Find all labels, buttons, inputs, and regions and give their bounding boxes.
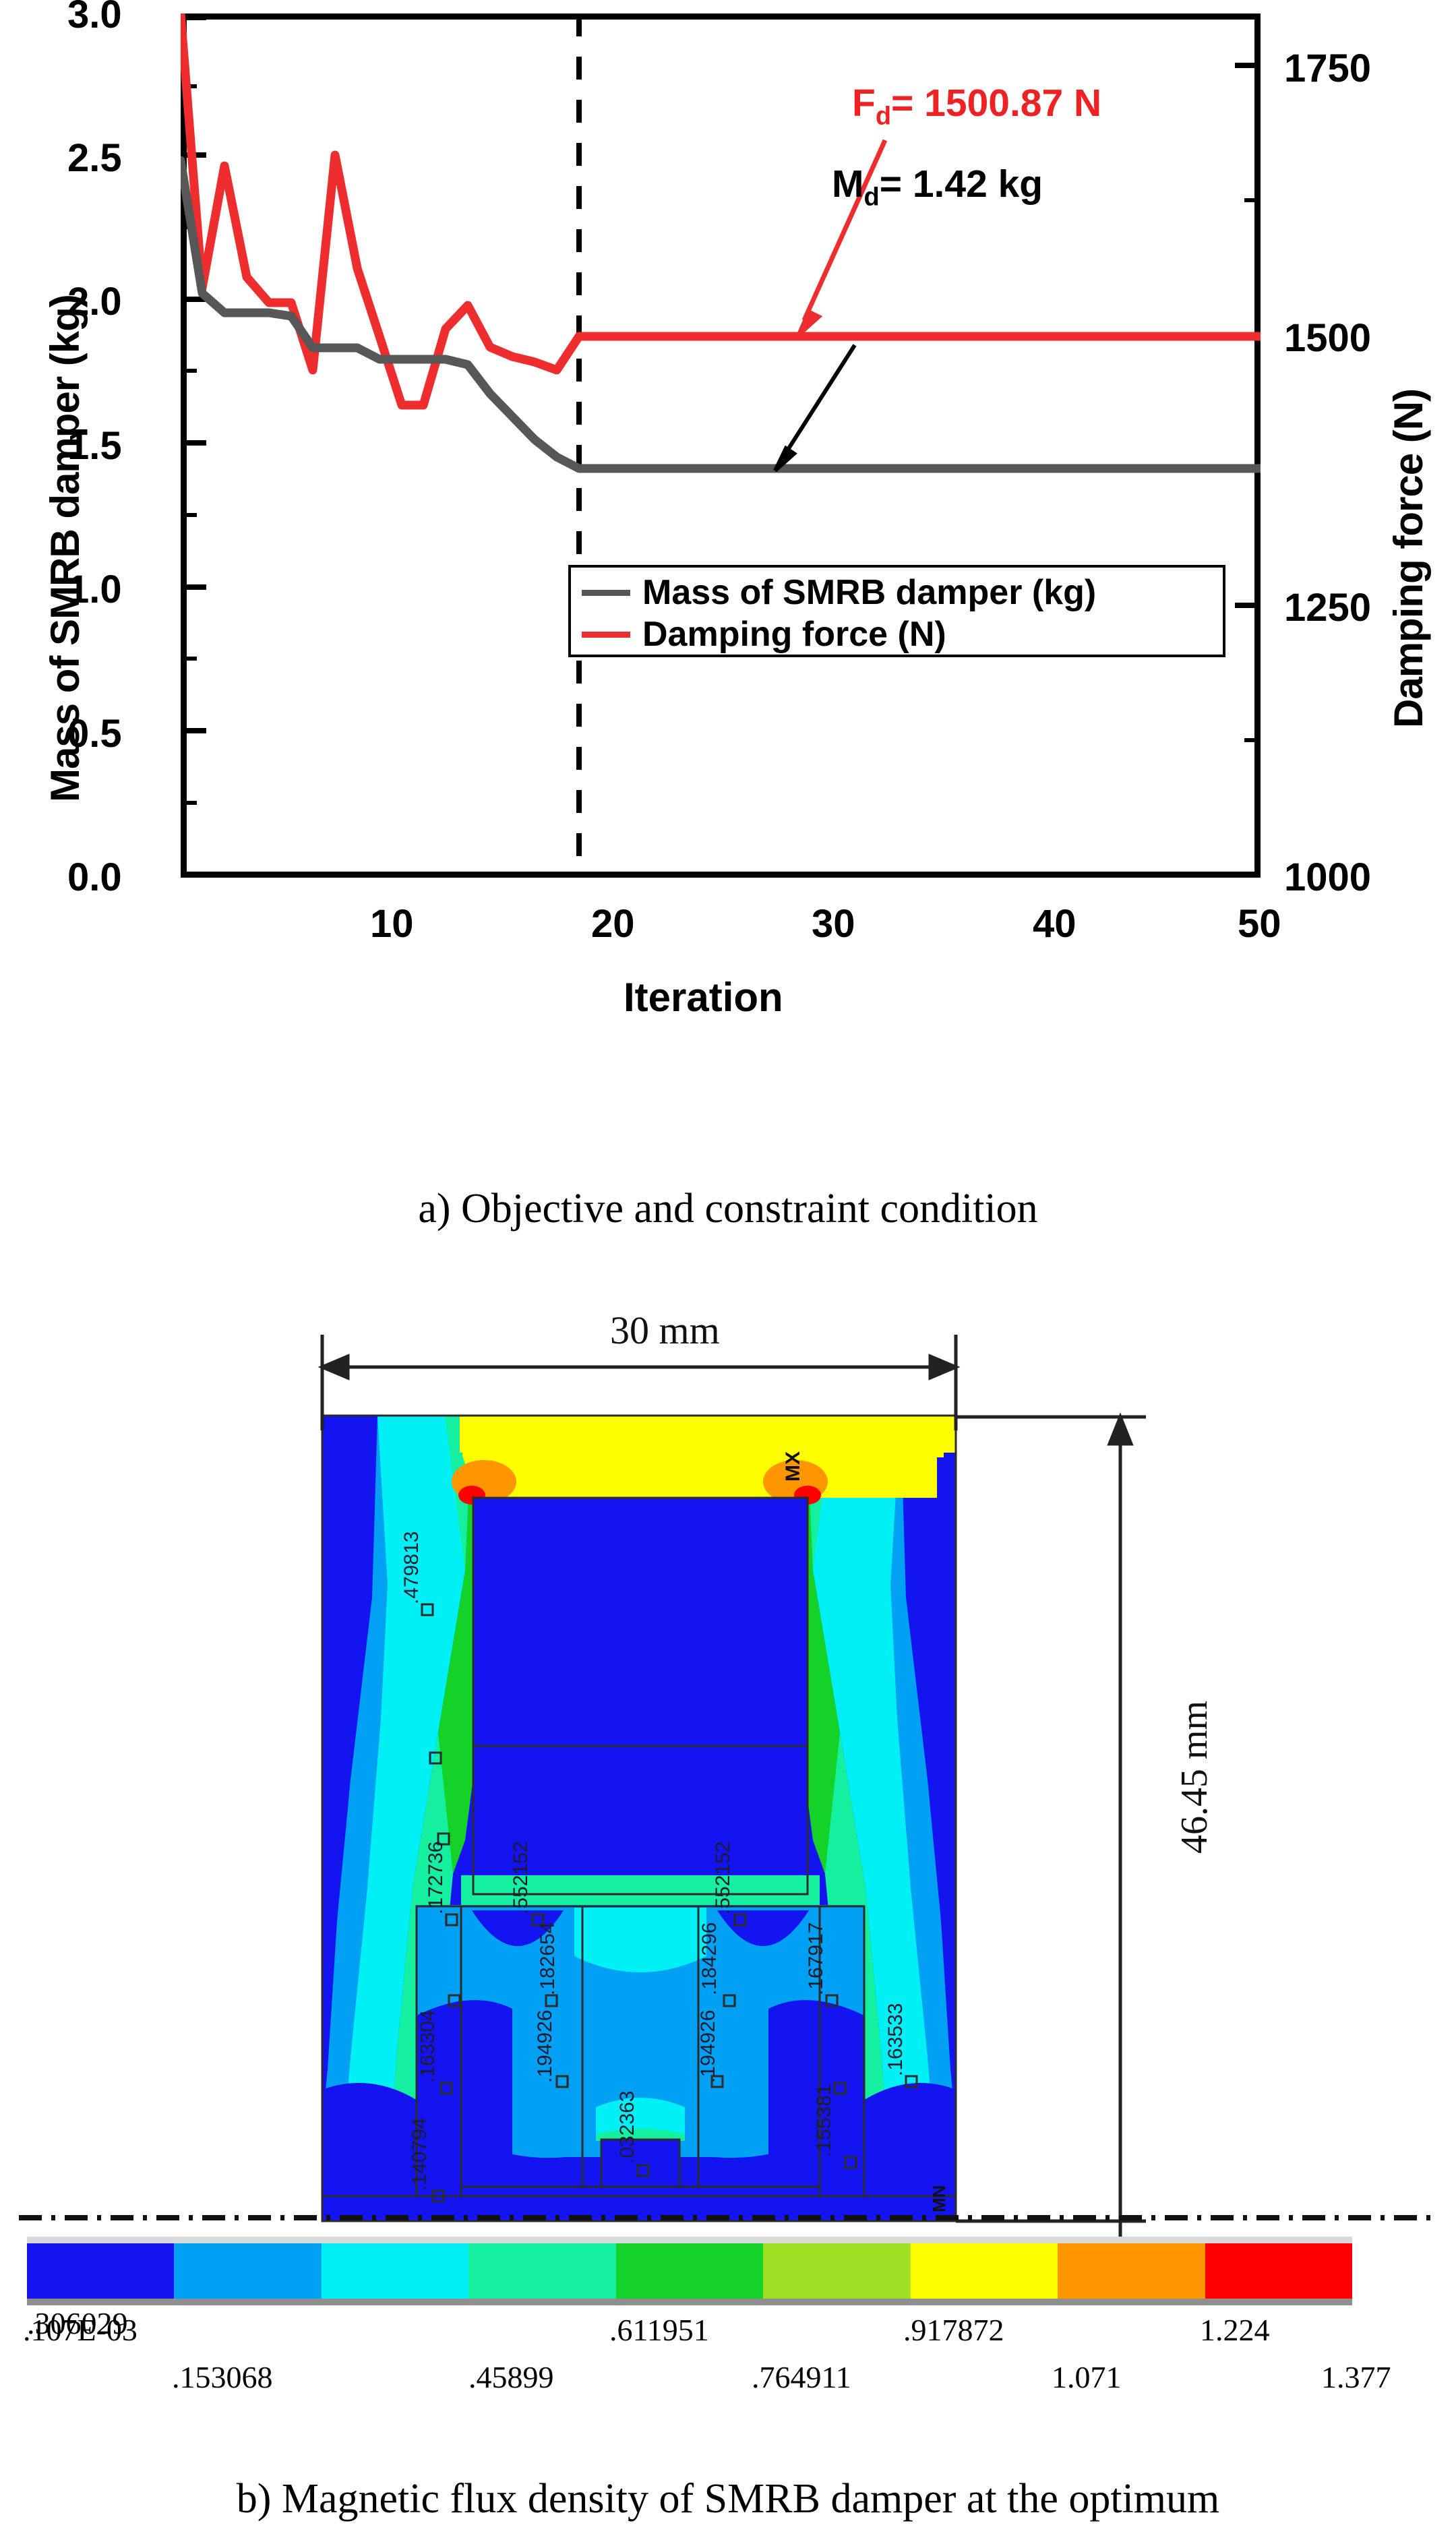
contour-label-1: .552152 <box>510 1842 532 1914</box>
md-arrow <box>775 345 855 471</box>
contour-label-7: .163304 <box>417 2010 439 2083</box>
legend-label-mass: Mass of SMRB damper (kg) <box>642 575 1096 610</box>
colorbar-segment-2 <box>174 2243 321 2299</box>
left-tick-0: 0.0 <box>67 855 122 900</box>
colorbar-label-bottom-0: .153068 <box>172 2359 273 2395</box>
left-tick-1: 0.5 <box>67 711 122 756</box>
x-tick-50: 50 <box>1238 901 1281 946</box>
height-dimension-line <box>956 1417 1146 2272</box>
fd-symbol: F <box>852 82 876 125</box>
colorbar <box>27 2237 1352 2305</box>
contour-label-9: .194926 <box>697 2010 719 2083</box>
colorbar-segment-4 <box>468 2243 615 2299</box>
legend-item-damping-force: Damping force (N) <box>571 613 1223 655</box>
dash-dot-separator <box>19 2215 1437 2220</box>
colorbar-segment-8 <box>1058 2243 1205 2299</box>
legend-label-damping-force: Damping force (N) <box>642 617 946 652</box>
legend-swatch-mass <box>582 590 630 596</box>
right-axis-title: Damping force (N) <box>1385 389 1432 728</box>
contour-label-4: .182654 <box>537 1922 559 1995</box>
md-value: = 1.42 kg <box>880 162 1043 206</box>
figure-objective-constraint: Mass of SMRB damper (kg) Damping force (… <box>0 0 1456 1146</box>
legend-swatch-damping-force <box>582 632 630 638</box>
fd-value: = 1500.87 N <box>891 82 1101 125</box>
left-tick-3: 1.5 <box>67 423 122 468</box>
contour-label-6: .167917 <box>805 1922 827 1995</box>
colorbar-container: .107E-03 .306029 .611951 .917872 1.224 .… <box>27 2237 1355 2305</box>
mx-marker: MX <box>782 1451 804 1482</box>
contour-label-0: .479813 <box>400 1532 423 1604</box>
mn-marker: MN <box>929 2185 949 2212</box>
right-tick-0: 1000 <box>1284 855 1371 900</box>
colorbar-label-top-2: .611951 <box>609 2312 709 2348</box>
x-tick-20: 20 <box>591 901 635 946</box>
plot-canvas <box>181 13 1261 878</box>
md-symbol: M <box>832 162 863 206</box>
colorbar-segment-1 <box>27 2243 174 2299</box>
right-tick-2: 1500 <box>1284 315 1371 361</box>
colorbar-segment-6 <box>763 2243 910 2299</box>
contour-label-12: .140794 <box>408 2118 431 2191</box>
contour-label-13: .032363 <box>616 2091 638 2164</box>
contour-label-2: .552152 <box>712 1842 734 1914</box>
contour-label-3: .172736 <box>425 1842 447 1914</box>
left-tick-5: 2.5 <box>67 135 122 181</box>
contour-label-10: .155381 <box>813 2084 835 2157</box>
md-subscript: d <box>863 183 879 211</box>
fd-subscript: d <box>876 102 891 130</box>
colorbar-label-top-3: .917872 <box>903 2312 1004 2348</box>
width-dimension-label: 30 mm <box>610 1308 720 1353</box>
left-tick-4: 2.0 <box>67 279 122 324</box>
colorbar-label-bottom-3: 1.071 <box>1052 2359 1122 2395</box>
colorbar-segment-9 <box>1205 2243 1352 2299</box>
caption-figure-b: b) Magnetic flux density of SMRB damper … <box>0 2475 1456 2523</box>
left-tick-6: 3.0 <box>67 0 122 37</box>
annotation-mass: Md= 1.42 kg <box>832 162 1043 212</box>
x-tick-30: 30 <box>812 901 855 946</box>
colorbar-label-bottom-2: .764911 <box>752 2359 851 2395</box>
height-dimension-label: 46.45 mm <box>1173 1701 1216 1854</box>
caption-figure-a: a) Objective and constraint condition <box>0 1185 1456 1233</box>
colorbar-segment-7 <box>911 2243 1058 2299</box>
flux-canvas: .479813 .552152 .552152 .172736 .182654 … <box>0 1314 1456 2292</box>
contour-label-5: .184296 <box>698 1922 721 1995</box>
right-tick-3: 1750 <box>1284 46 1371 91</box>
x-tick-40: 40 <box>1033 901 1076 946</box>
colorbar-label-top-1: .306029 <box>27 2305 128 2341</box>
contour-label-8: .194926 <box>534 2010 556 2083</box>
annotation-damping-force: Fd= 1500.87 N <box>852 81 1101 131</box>
x-axis-title: Iteration <box>624 974 783 1021</box>
colorbar-label-bottom-4: 1.377 <box>1321 2359 1391 2395</box>
colorbar-segment-3 <box>322 2243 468 2299</box>
left-tick-2: 1.0 <box>67 567 122 612</box>
colorbar-segment-5 <box>616 2243 763 2299</box>
figure-magnetic-flux: .479813 .552152 .552152 .172736 .182654 … <box>0 1314 1456 2366</box>
colorbar-label-top-4: 1.224 <box>1200 2312 1270 2348</box>
x-tick-10: 10 <box>370 901 414 946</box>
right-tick-1: 1250 <box>1284 585 1371 630</box>
chart-legend: Mass of SMRB damper (kg) Damping force (… <box>568 565 1225 657</box>
legend-item-mass: Mass of SMRB damper (kg) <box>571 572 1223 613</box>
contour-label-11: .163533 <box>884 2003 907 2076</box>
colorbar-label-bottom-1: .45899 <box>468 2359 554 2395</box>
